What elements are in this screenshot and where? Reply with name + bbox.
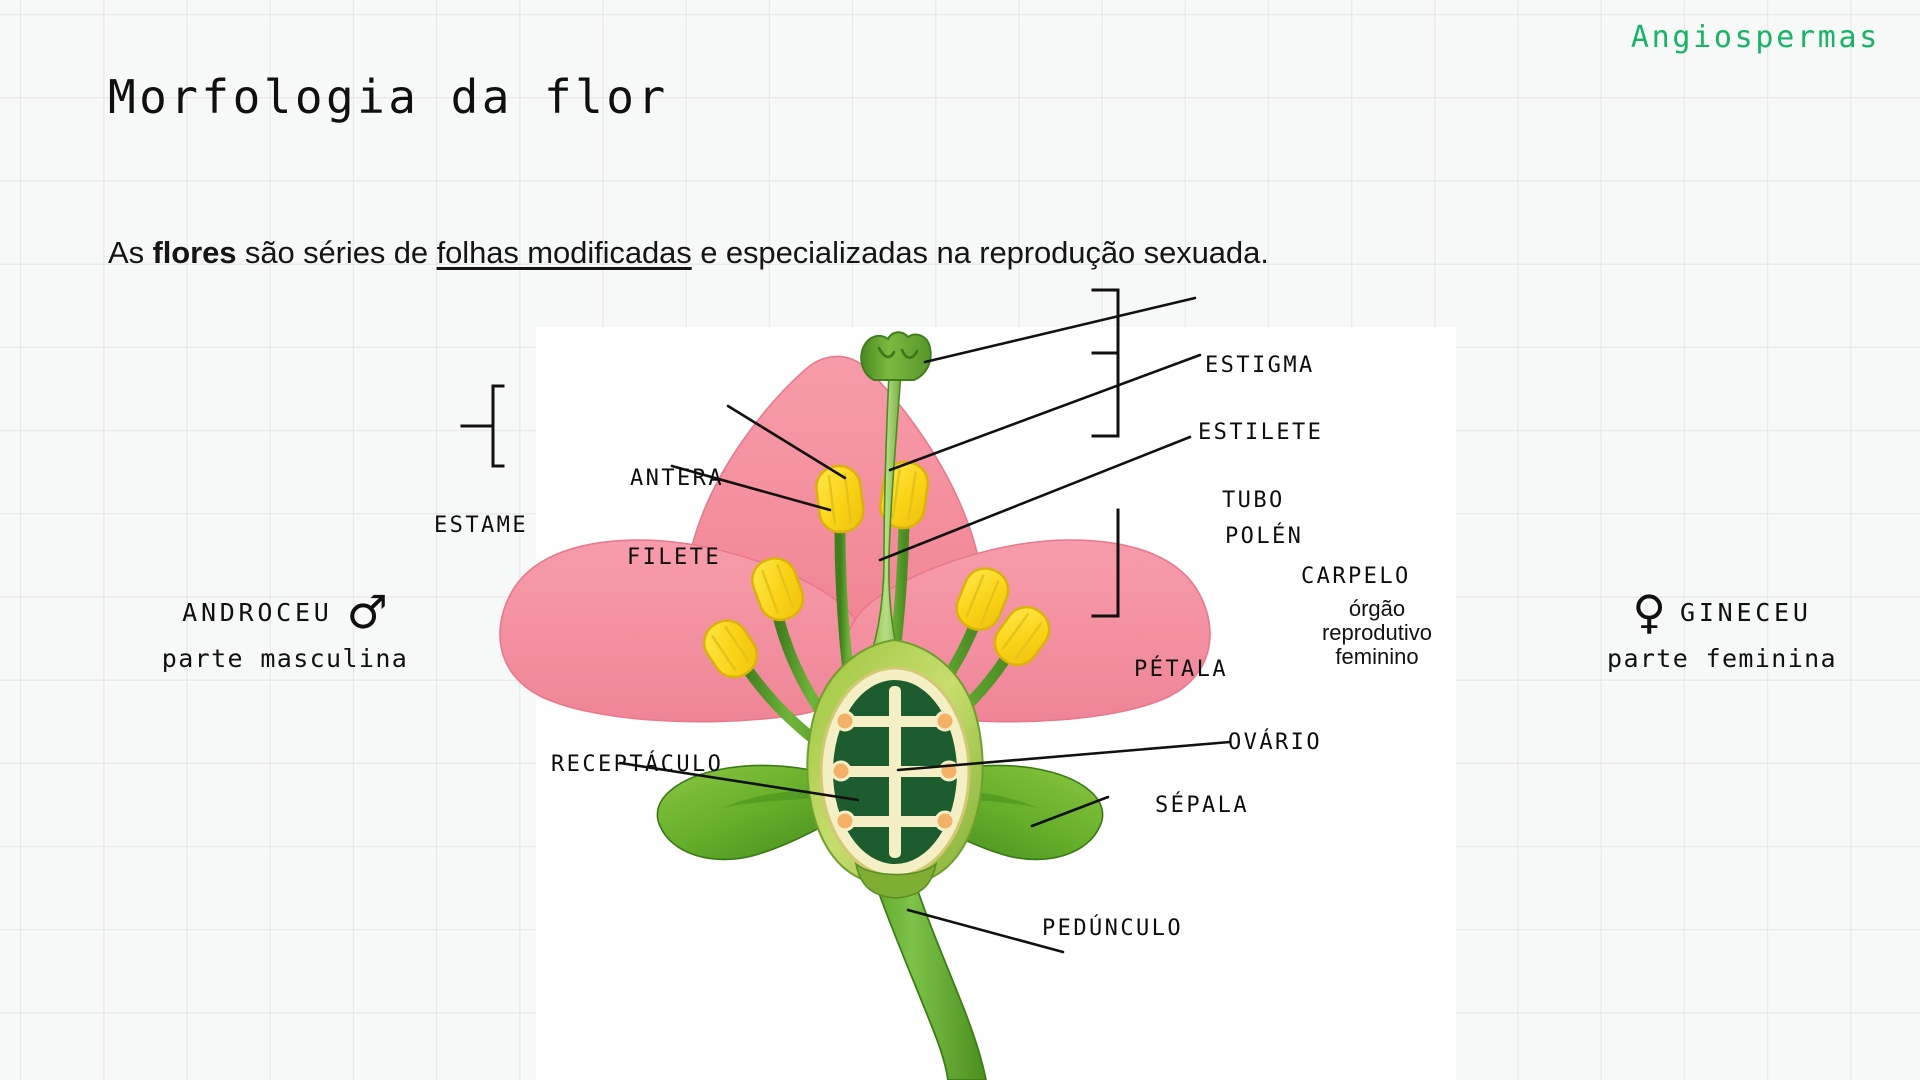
flower-anatomy-illustration: [0, 0, 1920, 1080]
leader-estigma: [925, 298, 1195, 362]
estigma-stigma: [861, 332, 930, 380]
estame-bracket: [462, 386, 503, 466]
